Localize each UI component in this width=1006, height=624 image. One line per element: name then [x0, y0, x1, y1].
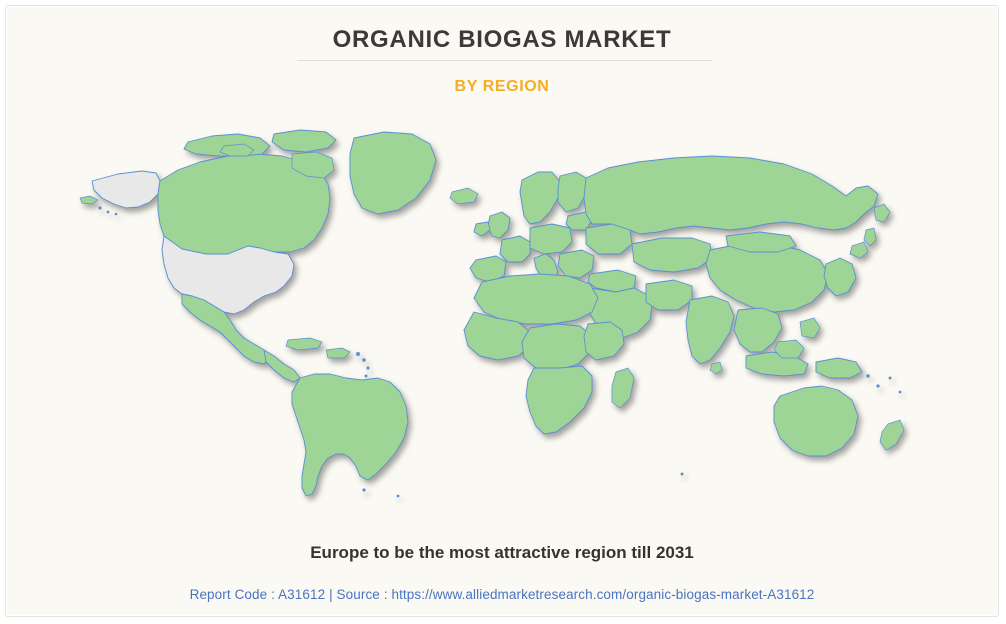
region-cuba — [286, 338, 322, 350]
region-australia — [774, 386, 858, 456]
region-north-africa — [474, 274, 598, 324]
region-kazakhstan — [632, 238, 712, 272]
region-ireland — [474, 222, 490, 236]
region-japan-north — [850, 242, 868, 258]
page-title: ORGANIC BIOGAS MARKET — [6, 26, 998, 54]
region-greenland — [350, 132, 436, 214]
region-balkans — [558, 250, 594, 278]
world-map — [78, 124, 926, 506]
world-map-svg — [78, 124, 926, 506]
region-central-africa — [522, 324, 592, 370]
region-southeast-asia — [734, 308, 782, 352]
region-finland — [558, 172, 586, 212]
region-sri-lanka — [710, 362, 722, 374]
region-russia — [584, 156, 878, 234]
region-southern-africa — [526, 366, 592, 434]
source-line: Report Code : A31612 | Source : https://… — [6, 587, 998, 602]
region-sakhalin — [864, 228, 876, 246]
region-philippines — [800, 318, 820, 338]
region-korea-japan — [824, 258, 856, 296]
map-callout: Europe to be the most attractive region … — [6, 543, 998, 563]
region-east-africa — [584, 322, 624, 360]
report-card: ORGANIC BIOGAS MARKET BY REGION — [5, 5, 999, 617]
region-aleutians — [80, 196, 98, 204]
source-separator: | — [329, 587, 333, 602]
region-france — [500, 236, 530, 262]
title-divider — [297, 60, 712, 61]
region-iran — [646, 280, 692, 310]
region-arctic-islands-2 — [272, 130, 336, 152]
report-code: Report Code : A31612 — [190, 587, 326, 602]
region-central-america — [264, 350, 300, 382]
page-subtitle: BY REGION — [6, 78, 998, 96]
region-south-america — [292, 374, 408, 496]
region-new-zealand — [880, 420, 904, 450]
region-scandinavia — [520, 172, 560, 224]
source-url[interactable]: Source : https://www.alliedmarketresearc… — [337, 587, 815, 602]
region-germany-poland — [530, 224, 572, 254]
region-madagascar — [612, 368, 634, 408]
region-kamchatka — [874, 204, 890, 222]
region-iceland — [450, 188, 478, 204]
region-new-guinea — [816, 358, 862, 378]
region-hispaniola — [326, 348, 350, 358]
region-alaska — [92, 171, 160, 208]
region-india — [686, 296, 734, 364]
region-uk — [488, 212, 510, 238]
